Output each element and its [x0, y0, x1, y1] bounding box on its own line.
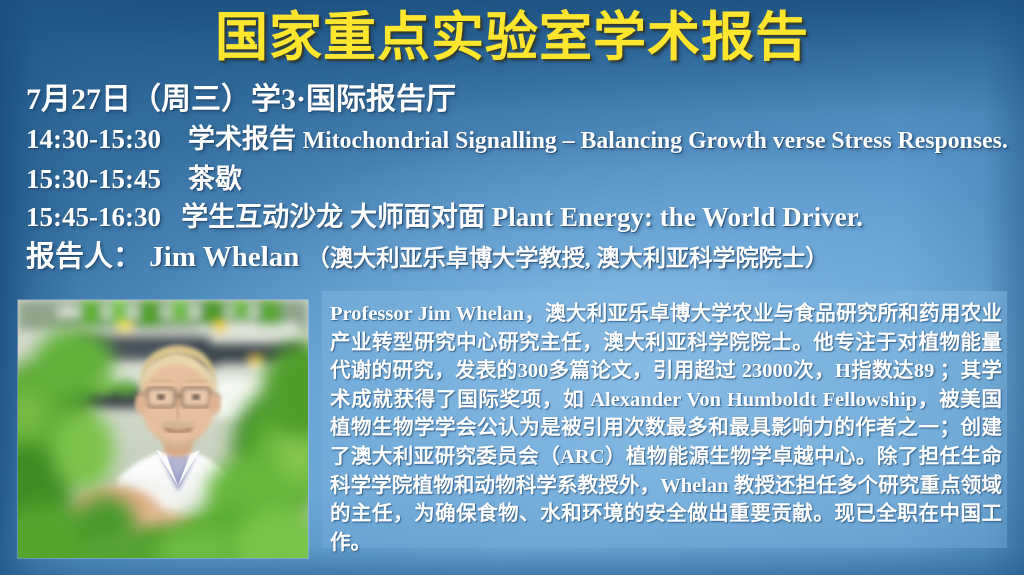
spacer — [168, 202, 175, 232]
bio-paragraph: Professor Jim Whelan，澳大利亚乐卓博大学农业与食品研究所和药… — [330, 300, 1002, 557]
spacer — [168, 164, 182, 194]
poster-title: 国家重点实验室学术报告 — [0, 8, 1024, 68]
schedule-line-speaker: 报告人： Jim Whelan （澳大利亚乐卓博大学教授, 澳大利亚科学院院士） — [26, 236, 1020, 280]
speaker-photo — [18, 300, 308, 558]
speaker-label: 报告人： — [26, 241, 142, 273]
spacer — [168, 124, 182, 154]
seminar-poster: 国家重点实验室学术报告 7月27日（周三）学3·国际报告厅 14:30-15:3… — [0, 0, 1024, 575]
lecture-time: 14:30-15:30 — [26, 124, 161, 154]
lecture-type: 学术报告 — [188, 124, 296, 154]
speaker-affiliation: （澳大利亚乐卓博大学教授, 澳大利亚科学院院士） — [307, 246, 829, 272]
schedule-date-text: 7月27日（周三）学3·国际报告厅 — [26, 83, 456, 116]
speaker-name: Jim Whelan — [149, 241, 299, 273]
salon-topic: Plant Energy: the World Driver. — [492, 202, 863, 232]
schedule-line-break: 15:30-15:45 茶歇 — [26, 160, 1020, 198]
salon-type: 学生互动沙龙 大师面对面 — [181, 202, 485, 232]
schedule-line-date: 7月27日（周三）学3·国际报告厅 — [26, 80, 1020, 120]
salon-time: 15:45-16:30 — [26, 202, 161, 232]
schedule-block: 7月27日（周三）学3·国际报告厅 14:30-15:30 学术报告 Mitoc… — [26, 80, 1020, 280]
schedule-line-salon: 15:45-16:30 学生互动沙龙 大师面对面 Plant Energy: t… — [26, 198, 1020, 236]
break-time: 15:30-15:45 — [26, 164, 161, 194]
break-type: 茶歇 — [188, 164, 242, 194]
lecture-topic: Mitochondrial Signalling – Balancing Gro… — [303, 128, 1008, 154]
schedule-line-lecture: 14:30-15:30 学术报告 Mitochondrial Signallin… — [26, 120, 1020, 160]
